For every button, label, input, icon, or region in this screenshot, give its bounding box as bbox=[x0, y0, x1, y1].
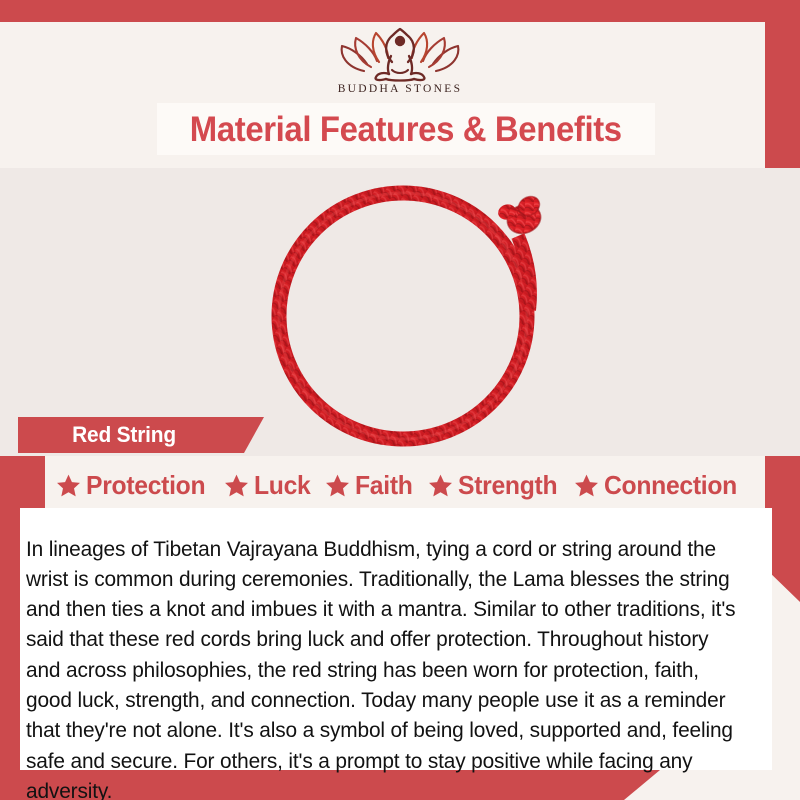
top-accent-bar bbox=[0, 0, 800, 22]
star-icon bbox=[325, 473, 350, 498]
star-icon bbox=[428, 473, 453, 498]
material-label-banner: Red String bbox=[18, 417, 264, 453]
star-icon bbox=[574, 473, 599, 498]
benefit-label: Faith bbox=[355, 470, 413, 501]
benefit-item-connection: Connection bbox=[574, 470, 744, 501]
benefit-item-strength: Strength bbox=[428, 470, 562, 501]
benefit-label: Strength bbox=[458, 470, 557, 501]
benefits-row: Protection Luck Faith bbox=[0, 464, 800, 506]
title-banner: Material Features & Benefits bbox=[157, 103, 655, 155]
benefit-label: Luck bbox=[254, 470, 311, 501]
material-label: Red String bbox=[18, 422, 176, 448]
star-icon bbox=[224, 473, 249, 498]
benefit-label: Connection bbox=[604, 470, 737, 501]
description-panel: In lineages of Tibetan Vajrayana Buddhis… bbox=[20, 508, 772, 770]
brand-name: BUDDHA STONES bbox=[338, 83, 463, 95]
benefit-item-protection: Protection bbox=[56, 470, 212, 501]
infographic-page: BUDDHA STONES Material Features & Benefi… bbox=[0, 0, 800, 800]
benefit-label: Protection bbox=[86, 470, 205, 501]
benefit-item-luck: Luck bbox=[224, 470, 313, 501]
description-text: In lineages of Tibetan Vajrayana Buddhis… bbox=[26, 534, 748, 800]
benefit-item-faith: Faith bbox=[325, 470, 416, 501]
brand-header: BUDDHA STONES bbox=[0, 22, 800, 104]
star-icon bbox=[56, 473, 81, 498]
red-string-bracelet-image bbox=[232, 168, 584, 456]
lotus-meditation-logo-icon bbox=[334, 22, 466, 82]
page-title: Material Features & Benefits bbox=[190, 112, 622, 147]
product-photo-band bbox=[0, 168, 800, 456]
